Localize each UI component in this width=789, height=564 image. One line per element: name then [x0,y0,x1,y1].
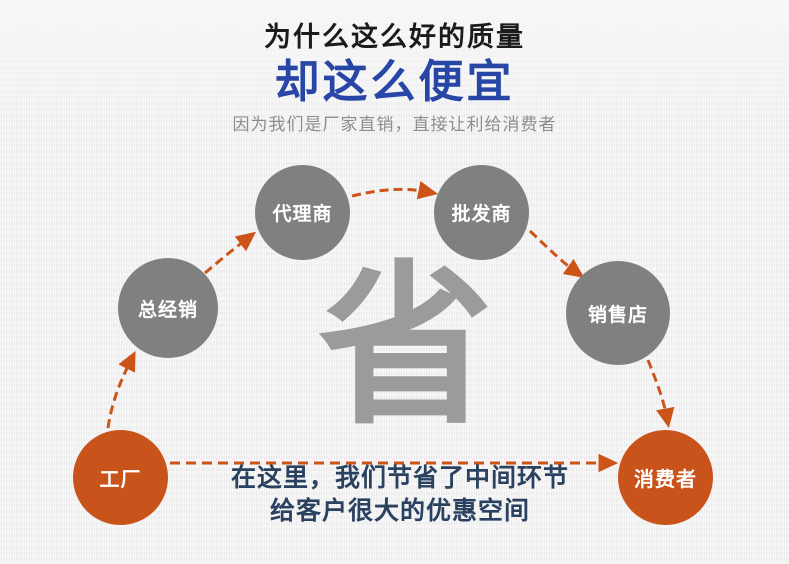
node-zongjingxiao[interactable]: 总经销 [118,258,218,358]
page-subtitle: 因为我们是厂家直销，直接让利给消费者 [0,113,789,137]
node-xiaofeizhe[interactable]: 消费者 [618,430,713,525]
edge-zongjingxiao-to-dailishang [205,238,248,273]
footer-line-1: 在这里，我们节省了中间环节 [231,464,569,492]
node-pifashang[interactable]: 批发商 [434,165,529,260]
edge-dailishang-to-pifashang [352,189,428,196]
node-label: 批发商 [451,199,511,226]
node-label: 工厂 [100,463,142,492]
node-dailishang[interactable]: 代理商 [255,165,350,260]
node-label: 销售店 [588,300,648,327]
edge-gongchang-to-zongjingxiao [108,360,131,428]
watermark-character: 省 [318,258,488,438]
edge-pifashang-to-xiaoshoudian [530,231,576,272]
edge-xiaoshoudian-to-xiaofeizhe [648,360,667,418]
node-label: 总经销 [138,295,198,322]
footer-message: 在这里，我们节省了中间环节 给客户很大的优惠空间 [190,462,610,528]
page-title: 为什么这么好的质量 [0,20,789,54]
node-label: 代理商 [272,199,332,226]
node-gongchang[interactable]: 工厂 [73,430,168,525]
promo-infographic: 为什么这么好的质量 却这么便宜 因为我们是厂家直销，直接让利给消费者 省 总经销… [0,0,789,564]
page-title-accent: 却这么便宜 [0,54,789,110]
node-xiaoshoudian[interactable]: 销售店 [566,261,670,365]
node-label: 消费者 [634,463,697,492]
footer-line-2: 给客户很大的优惠空间 [190,495,610,528]
